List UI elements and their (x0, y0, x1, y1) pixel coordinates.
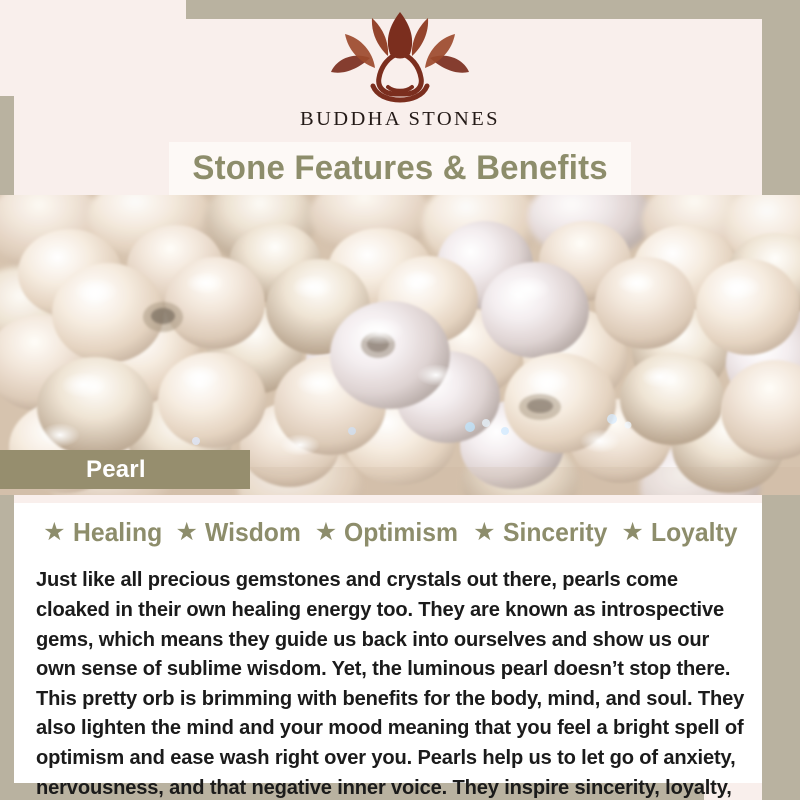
page-title: Stone Features & Benefits (192, 149, 607, 188)
poster-root: BUDDHA STONES Stone Features & Benefits (0, 0, 800, 800)
benefits-row: ★ Healing ★ Wisdom ★ Optimism ★ Sincerit… (14, 515, 762, 549)
brand-logo-block: BUDDHA STONES (0, 8, 800, 131)
benefit-label: Wisdom (205, 517, 301, 548)
star-icon: ★ (621, 520, 643, 545)
stone-name-bar: Pearl (0, 450, 250, 489)
benefit-label: Loyalty (651, 517, 737, 548)
benefit-label: Healing (73, 517, 162, 548)
star-icon: ★ (175, 520, 197, 545)
star-icon: ★ (315, 520, 337, 545)
benefit-item: ★ Wisdom (166, 517, 305, 548)
benefit-item: ★ Healing (34, 517, 166, 548)
benefit-item: ★ Optimism (306, 517, 464, 548)
star-icon: ★ (473, 520, 495, 545)
lotus-meditation-icon (315, 8, 485, 104)
stone-description: Just like all precious gemstones and cry… (36, 566, 753, 800)
stone-name: Pearl (86, 456, 146, 484)
benefit-item: ★ Sincerity (464, 517, 612, 548)
benefit-label: Optimism (344, 517, 458, 548)
benefit-item: ★ Loyalty (612, 517, 741, 548)
benefit-label: Sincerity (503, 517, 607, 548)
brand-wordmark: BUDDHA STONES (0, 108, 800, 131)
title-plate: Stone Features & Benefits (169, 142, 631, 195)
star-icon: ★ (43, 520, 65, 545)
